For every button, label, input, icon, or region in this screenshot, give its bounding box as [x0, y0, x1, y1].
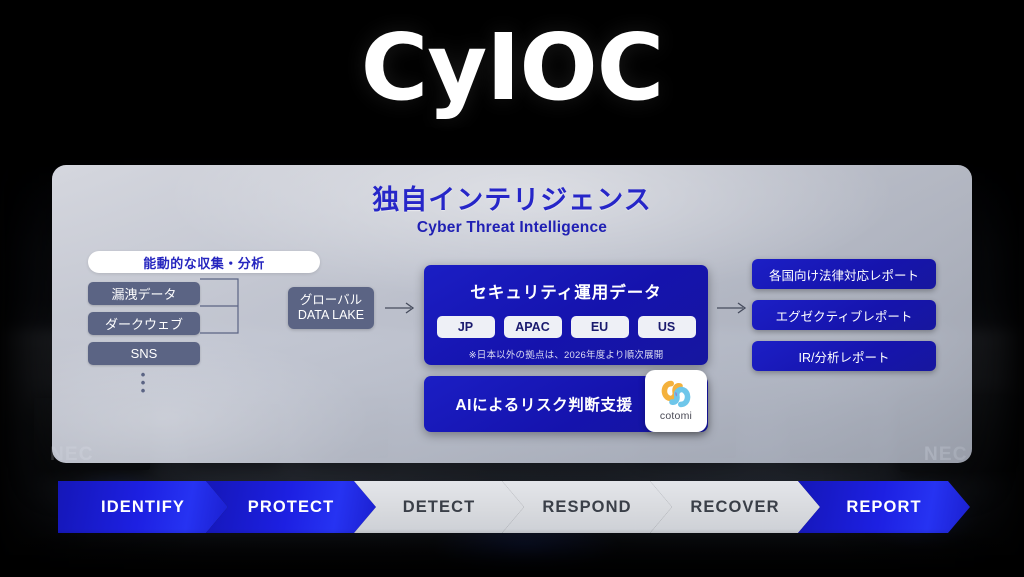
- region-chip-us: US: [638, 316, 696, 338]
- region-chip-apac: APAC: [504, 316, 562, 338]
- heading-japanese: 独自インテリジェンス: [52, 185, 972, 216]
- lifecycle-label: RESPOND: [542, 498, 631, 517]
- report-legal-compliance: 各国向け法律対応レポート: [752, 259, 936, 289]
- cotomi-wordmark: cotomi: [660, 410, 692, 422]
- lifecycle-label: REPORT: [846, 498, 921, 517]
- source-more-ellipsis-icon: •••: [88, 371, 200, 394]
- security-ops-footnote: ※日本以外の拠点は、2026年度より順次展開: [424, 347, 708, 361]
- source-item-sns: SNS: [88, 342, 200, 365]
- ai-risk-support-title: AIによるリスク判断支援: [455, 393, 632, 415]
- lifecycle-label: PROTECT: [248, 498, 335, 517]
- intelligence-panel: 独自インテリジェンス Cyber Threat Intelligence 能動的…: [52, 165, 972, 463]
- lifecycle-step-identify[interactable]: IDENTIFY: [58, 481, 228, 533]
- data-lake-line1: グローバル: [300, 293, 362, 308]
- lifecycle-step-report[interactable]: REPORT: [798, 481, 970, 533]
- lifecycle-label: RECOVER: [690, 498, 779, 517]
- lifecycle-step-recover[interactable]: RECOVER: [650, 481, 820, 533]
- report-executive: エグゼクティブレポート: [752, 300, 936, 330]
- arrow-right-icon: [716, 301, 748, 315]
- arrow-right-icon: [384, 301, 416, 315]
- report-ir-analysis: IR/分析レポート: [752, 341, 936, 371]
- cotomi-logo-card: cotomi: [645, 370, 707, 432]
- data-lake-line2: DATA LAKE: [298, 308, 364, 323]
- source-item-leaked-data: 漏洩データ: [88, 282, 200, 305]
- security-ops-title: セキュリティ運用データ: [424, 279, 708, 303]
- report-output-group: 各国向け法律対応レポート エグゼクティブレポート IR/分析レポート: [752, 259, 936, 371]
- region-chip-jp: JP: [437, 316, 495, 338]
- lifecycle-step-respond[interactable]: RESPOND: [502, 481, 672, 533]
- cotomi-icon: [660, 380, 692, 408]
- region-chip-eu: EU: [571, 316, 629, 338]
- panel-heading: 独自インテリジェンス Cyber Threat Intelligence: [52, 185, 972, 237]
- collection-pill-label: 能動的な収集・分析: [88, 251, 320, 273]
- global-data-lake-box: グローバル DATA LAKE: [288, 287, 374, 329]
- lifecycle-label: DETECT: [403, 498, 476, 517]
- collection-column: 能動的な収集・分析 漏洩データ ダークウェブ SNS •••: [88, 251, 320, 394]
- source-list: 漏洩データ ダークウェブ SNS: [88, 282, 320, 365]
- source-item-dark-web: ダークウェブ: [88, 312, 200, 335]
- region-chip-group: JP APAC EU US: [424, 316, 708, 338]
- product-logo: CyIOC: [0, 22, 1024, 114]
- lifecycle-label: IDENTIFY: [101, 498, 185, 517]
- slide-canvas: NEC NEC CyIOC 独自インテリジェンス Cyber Threat In…: [0, 0, 1024, 577]
- lifecycle-chevron-bar: IDENTIFY PROTECT DETECT RESPOND RECOVER …: [58, 481, 970, 533]
- heading-english: Cyber Threat Intelligence: [52, 219, 972, 237]
- lifecycle-step-protect[interactable]: PROTECT: [206, 481, 376, 533]
- security-ops-data-box: セキュリティ運用データ JP APAC EU US ※日本以外の拠点は、2026…: [424, 265, 708, 365]
- lifecycle-step-detect[interactable]: DETECT: [354, 481, 524, 533]
